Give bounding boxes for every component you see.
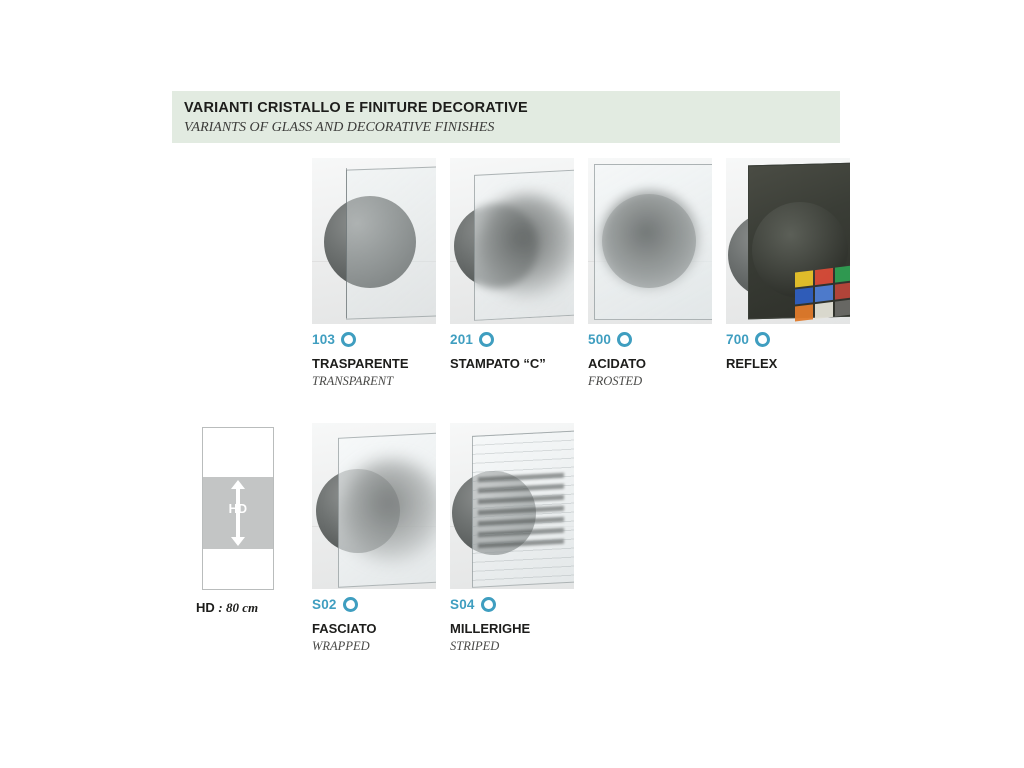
glass-edge — [346, 168, 347, 318]
glass-sample-icon — [481, 597, 496, 612]
glass-sample-icon — [479, 332, 494, 347]
finish-code: 103 — [312, 332, 335, 347]
page-subtitle: VARIANTS OF GLASS AND DECORATIVE FINISHE… — [184, 119, 840, 137]
hd-diagram: HD — [202, 427, 274, 590]
frosted-sphere-through-glass — [600, 190, 700, 290]
finish-name-en: STRIPED — [450, 639, 620, 654]
finish-card-700[interactable]: 700 REFLEX — [726, 158, 850, 324]
finish-name-en: FROSTED — [588, 374, 758, 389]
arrow-head-down — [231, 537, 245, 546]
blurred-sphere-through-glass — [476, 194, 574, 298]
finish-photo-201 — [450, 158, 574, 324]
code-line: 700 — [726, 330, 896, 348]
hd-band-label: HD — [229, 502, 248, 516]
finish-name-it: MILLERIGHE — [450, 621, 620, 636]
glass-sample-icon — [617, 332, 632, 347]
finish-photo-500 — [588, 158, 712, 324]
finish-caption-s04: S04 MILLERIGHE STRIPED — [450, 595, 620, 654]
finish-card-201[interactable]: 201 STAMPATO “C” — [450, 158, 574, 324]
finish-card-s02[interactable]: S02 FASCIATO WRAPPED — [312, 423, 436, 589]
glass-sample-icon — [755, 332, 770, 347]
hd-caption: HD : 80 cm — [196, 600, 336, 616]
glass-sample-icon — [341, 332, 356, 347]
finish-photo-700 — [726, 158, 850, 324]
catalog-page: VARIANTI CRISTALLO E FINITURE DECORATIVE… — [0, 0, 1024, 768]
finish-card-s04[interactable]: S04 MILLERIGHE STRIPED — [450, 423, 574, 589]
hd-caption-key: HD — [196, 600, 215, 615]
stripe-pattern — [472, 430, 574, 588]
finish-card-103[interactable]: 103 TRASPARENTE TRANSPARENT — [312, 158, 436, 324]
finish-name-en: TRANSPARENT — [312, 374, 482, 389]
finish-code: S04 — [450, 597, 475, 612]
glass-sample-icon — [343, 597, 358, 612]
hd-panel-outline: HD — [202, 427, 274, 590]
finish-code: 700 — [726, 332, 749, 347]
hd-caption-value: : 80 cm — [218, 600, 258, 615]
colour-squares — [794, 264, 850, 323]
glass-pane — [346, 166, 436, 319]
finish-caption-700: 700 REFLEX — [726, 330, 896, 371]
blurred-sphere-through-glass — [340, 459, 436, 563]
finish-photo-s04 — [450, 423, 574, 589]
page-title: VARIANTI CRISTALLO E FINITURE DECORATIVE — [184, 100, 840, 117]
finish-code: 201 — [450, 332, 473, 347]
section-header-band: VARIANTI CRISTALLO E FINITURE DECORATIVE… — [172, 91, 840, 143]
finish-code: 500 — [588, 332, 611, 347]
finish-name-it: REFLEX — [726, 356, 896, 371]
code-line: S04 — [450, 595, 620, 613]
finish-photo-103 — [312, 158, 436, 324]
finish-photo-s02 — [312, 423, 436, 589]
finish-card-500[interactable]: 500 ACIDATO FROSTED — [588, 158, 712, 324]
